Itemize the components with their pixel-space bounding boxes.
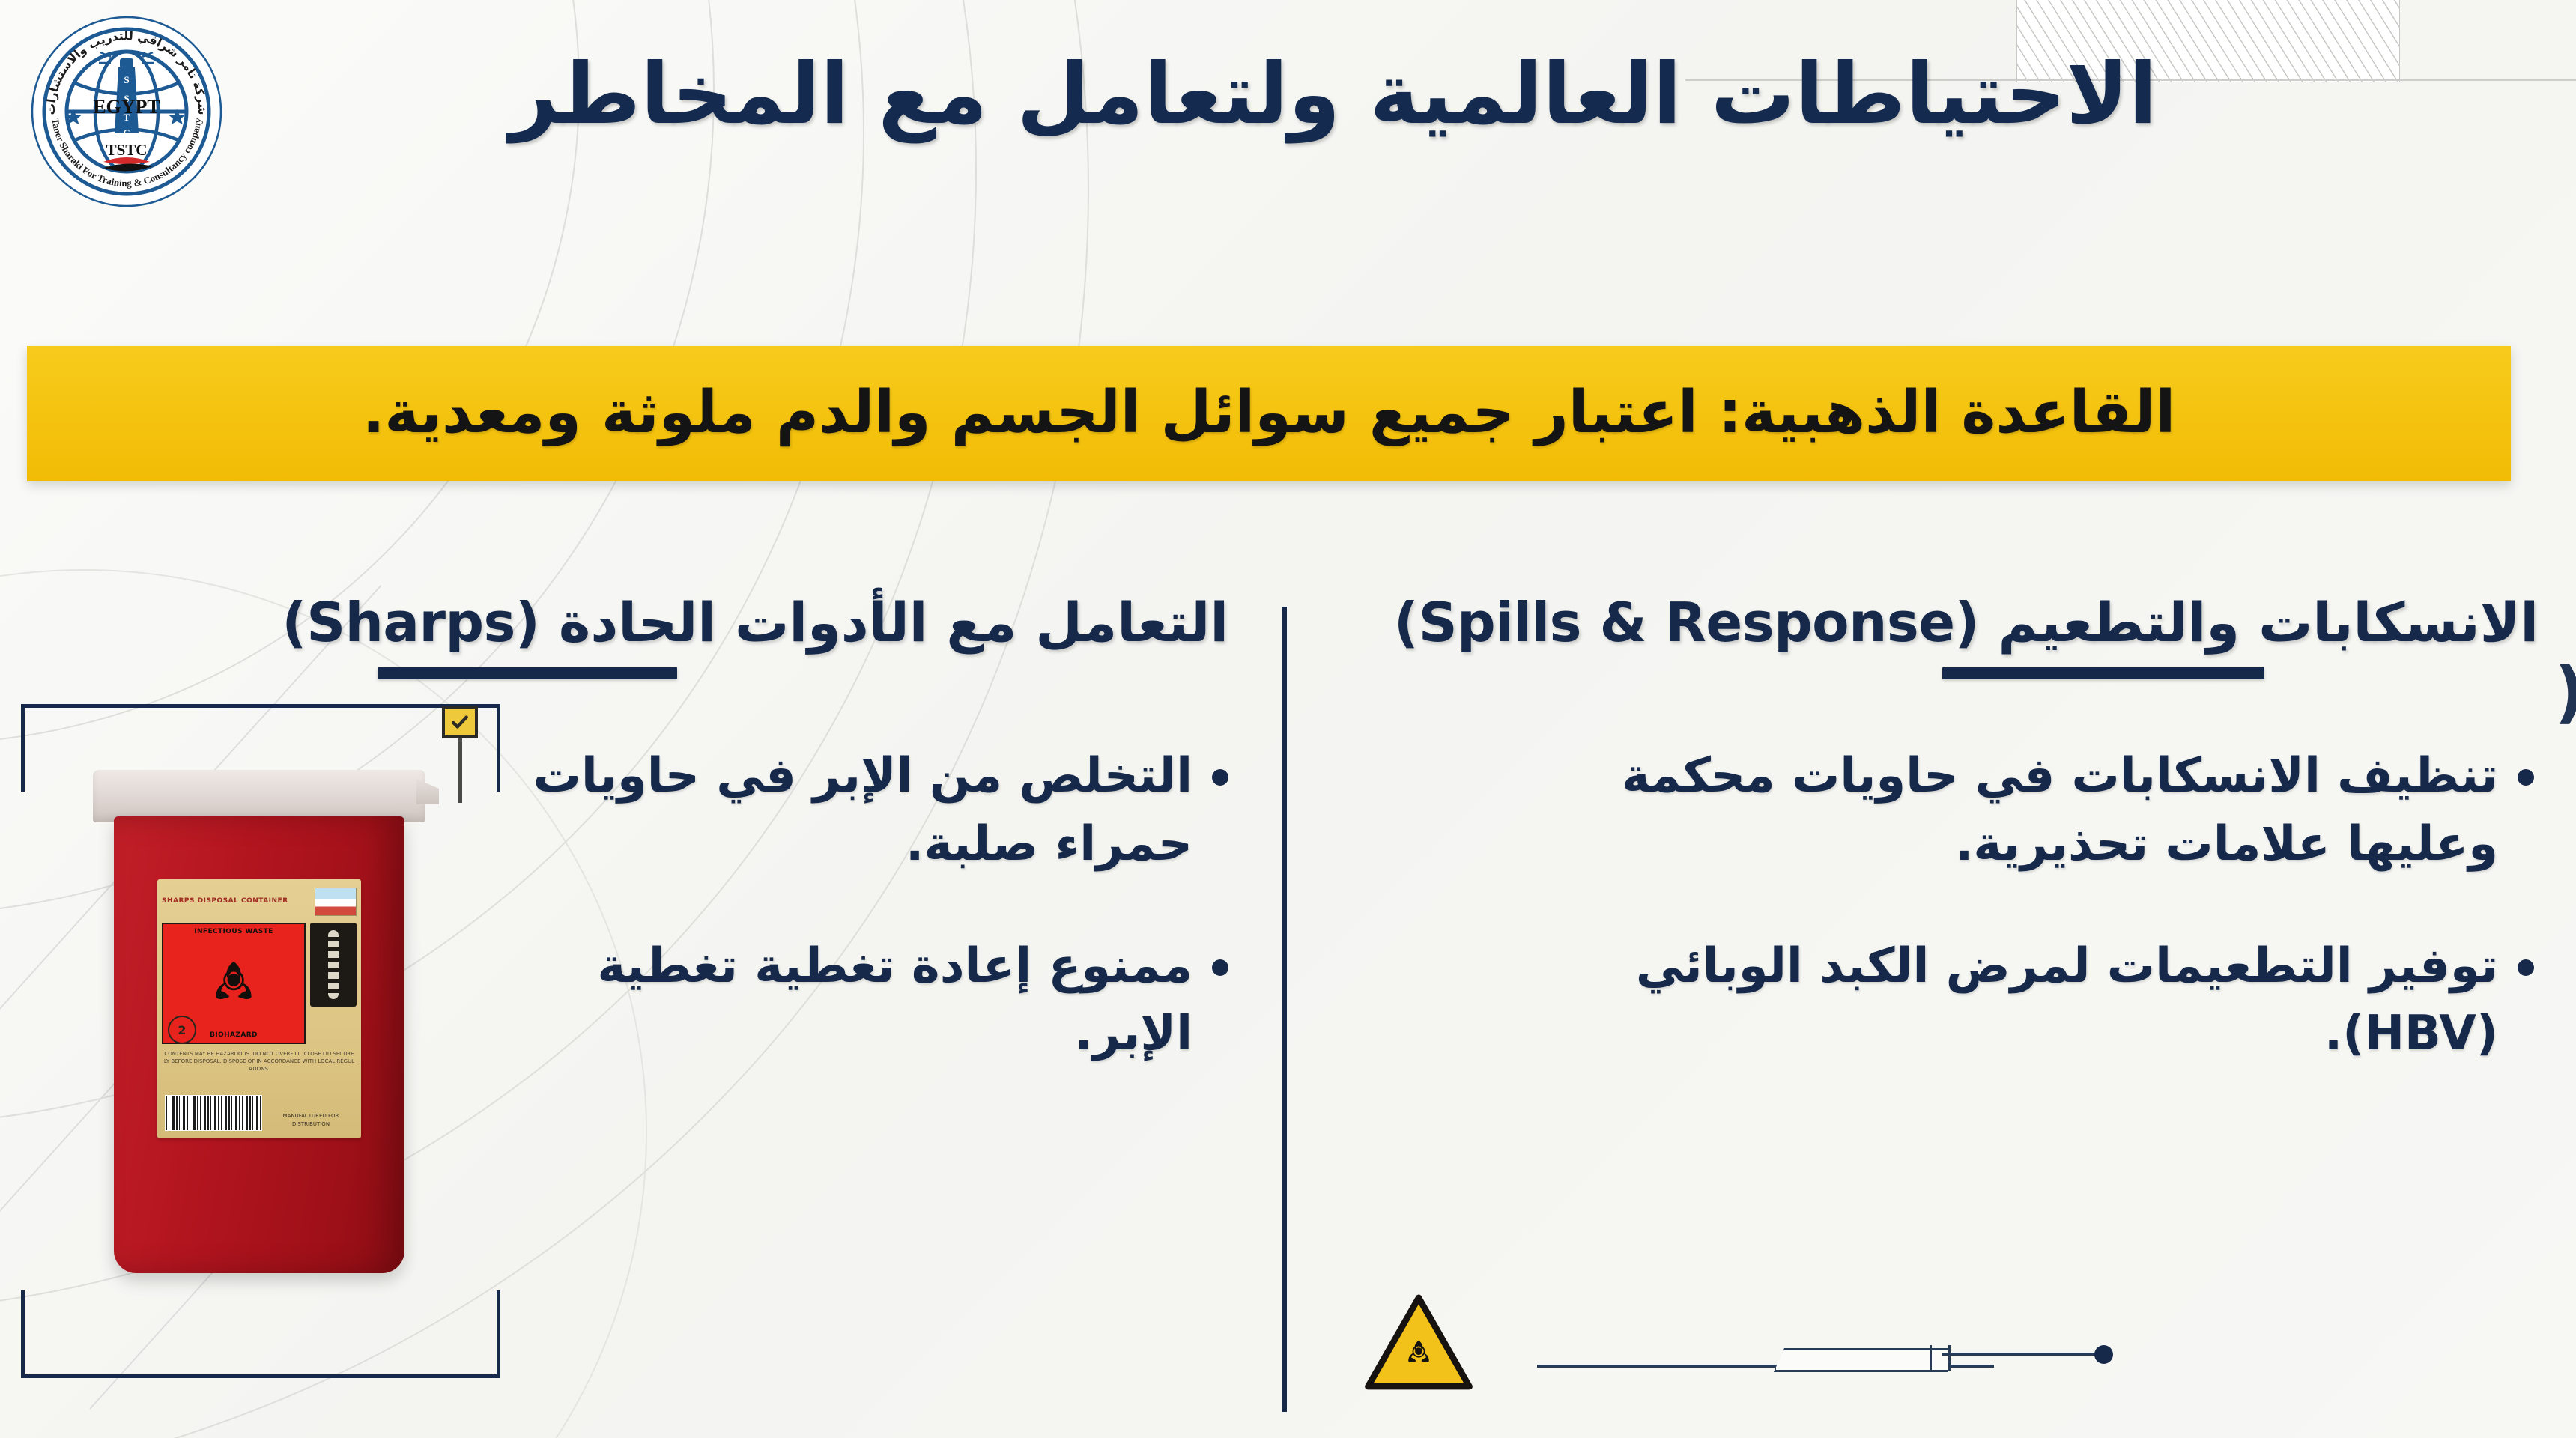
list-item-label: ممنوع إعادة تغطية تغطية الإبر. (479, 932, 1192, 1069)
check-chip-stem (458, 738, 462, 803)
label-flag-icon (315, 888, 357, 916)
list-item: ممنوع إعادة تغطية تغطية الإبر. (479, 932, 1228, 1069)
syringe-tip-dot-icon (2094, 1345, 2113, 1364)
bullet-dot-icon (2518, 769, 2534, 786)
column-heading-spills: الانسكابات والتطعيم (Spills & Response) (1303, 592, 2569, 654)
frame-corner (21, 1290, 109, 1378)
check-mark-icon (442, 706, 478, 738)
golden-rule-text: القاعدة الذهبية: اعتبار جميع سوائل الجسم… (333, 378, 2205, 449)
label-fine-print: CONTENTS MAY BE HAZARDOUS. DO NOT OVERFI… (163, 1050, 355, 1073)
svg-text:S: S (124, 74, 129, 85)
column-heading-sharps: التعامل مع الأدوات الحادة (Sharps) (7, 592, 1273, 654)
frame-edge (102, 1374, 424, 1378)
list-item-label: التخلص من الإبر في حاويات حمراء صلبة. (479, 742, 1192, 879)
heading-underline (378, 667, 677, 679)
hazard-graphic-group (1363, 1293, 2157, 1405)
list-item: توفير التطعيمات لمرض الكبد الوبائي (HBV)… (1560, 932, 2534, 1069)
container-label: SHARPS DISPOSAL CONTAINER INFECTIOUS WAS… (157, 879, 361, 1138)
page-title: الاحتياطات العالمية ولتعامل مع المخاطر (247, 45, 2419, 144)
biohazard-warning-triangle-icon (1363, 1293, 1474, 1392)
bullet-dot-icon (1212, 959, 1228, 976)
frame-corner (413, 1290, 500, 1378)
syringe-shaft-icon (1942, 1353, 2100, 1356)
svg-text:TSTC: TSTC (106, 141, 148, 159)
column-divider (1282, 607, 1287, 1412)
list-item: تنظيف الانسكابات في حاويات محكمة وعليها … (1560, 742, 2534, 879)
svg-text:EGYPT: EGYPT (93, 96, 160, 118)
label-brand-row: SHARPS DISPOSAL CONTAINER (162, 884, 357, 920)
company-logo: S S T C EGYPT TSTC شركة تامر شراقي للتدر… (28, 13, 225, 210)
bullet-dot-icon (1212, 769, 1228, 786)
label-signature-note: MANUFACTURED FOR DISTRIBUTION (270, 1112, 352, 1128)
bullet-list-spills: تنظيف الانسكابات في حاويات محكمة وعليها … (1560, 742, 2569, 1069)
syringe-barrel-icon (1774, 1348, 1948, 1372)
syringe-flange-icon (1930, 1345, 1951, 1371)
heading-underline (1942, 667, 2264, 679)
biohazard-icon (207, 956, 261, 1010)
bullet-dot-icon (2518, 959, 2534, 976)
slide-canvas: S S T C EGYPT TSTC شركة تامر شراقي للتدر… (0, 0, 2576, 1438)
golden-rule-banner: القاعدة الذهبية: اعتبار جميع سوائل الجسم… (27, 346, 2511, 481)
razor-blade-icon (310, 923, 357, 1007)
recycle-mark-icon: 2 (168, 1016, 196, 1044)
container-lid (93, 770, 425, 822)
edge-clipped-paren: ( (2554, 659, 2576, 726)
column-spills-response: الانسكابات والتطعيم (Spills & Response) … (1303, 592, 2569, 1122)
list-item: التخلص من الإبر في حاويات حمراء صلبة. (479, 742, 1228, 879)
barcode-icon (165, 1095, 262, 1131)
label-brand-text: SHARPS DISPOSAL CONTAINER (162, 897, 311, 905)
list-item-label: توفير التطعيمات لمرض الكبد الوبائي (HBV)… (1560, 932, 2498, 1069)
bullet-list-sharps: التخلص من الإبر في حاويات حمراء صلبة. مم… (479, 742, 1273, 1069)
label-infectious-waste-text: INFECTIOUS WASTE (163, 928, 304, 935)
sharps-container-image: SHARPS DISPOSAL CONTAINER INFECTIOUS WAS… (109, 770, 409, 1294)
svg-text:C: C (123, 127, 130, 139)
sharps-photo-frame: SHARPS DISPOSAL CONTAINER INFECTIOUS WAS… (21, 704, 500, 1378)
list-item-label: تنظيف الانسكابات في حاويات محكمة وعليها … (1560, 742, 2498, 879)
frame-edge (102, 704, 424, 708)
